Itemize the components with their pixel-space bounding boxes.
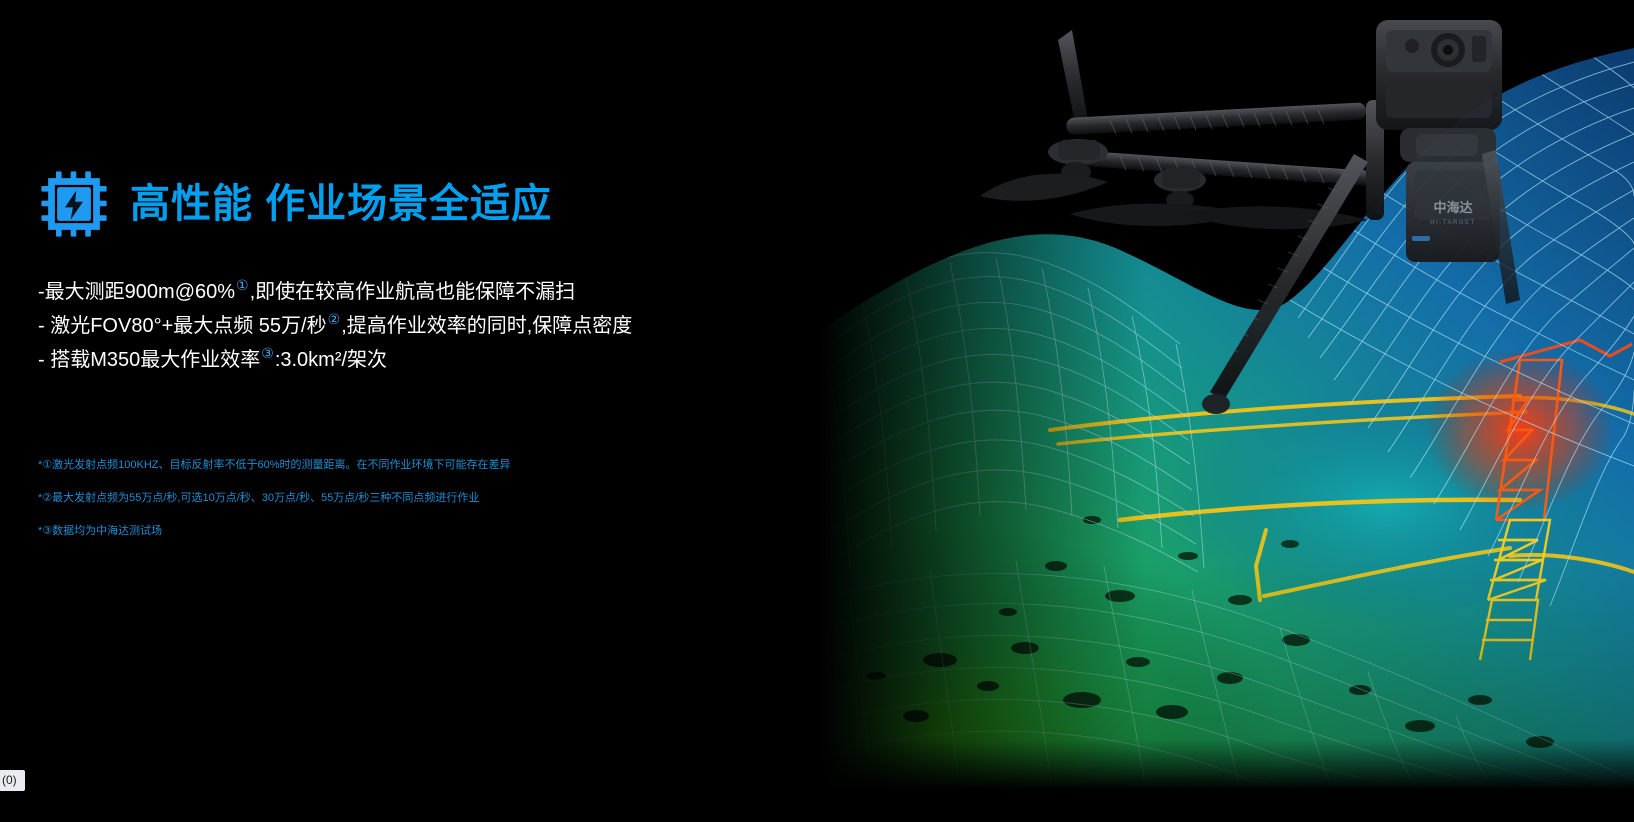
page-title: 高性能 作业场景全适应 xyxy=(130,184,552,224)
text-content-column: 高性能 作业场景全适应 -最大测距900m@60%①,即使在较高作业航高也能保障… xyxy=(0,0,830,822)
chip-bolt-icon xyxy=(38,168,110,240)
feature-bullet-list: -最大测距900m@60%①,即使在较高作业航高也能保障不漏扫 - 激光FOV8… xyxy=(38,282,798,384)
bullet-text-suffix: ,即使在较高作业航高也能保障不漏扫 xyxy=(250,281,576,303)
bullet-text-suffix: ,提高作业效率的同时,保障点密度 xyxy=(341,315,632,337)
section-header: 高性能 作业场景全适应 xyxy=(38,168,552,240)
bullet-item: -最大测距900m@60%①,即使在较高作业航高也能保障不漏扫 xyxy=(38,282,798,302)
footnote-item: *①激光发射点频100KHZ、目标反射率不低于60%时的测量距离。在不同作业环境… xyxy=(38,460,798,471)
footnote-marker-1: ① xyxy=(236,277,249,293)
bullet-item: - 搭载M350最大作业效率③:3.0km²/架次 xyxy=(38,350,798,370)
payload-sub-text: HI-TARGET xyxy=(1430,220,1475,226)
bullet-text-prefix: -最大测距900m@60% xyxy=(38,281,235,303)
footnote-marker-3: ③ xyxy=(261,345,274,361)
bullet-text-suffix: :3.0km²/架次 xyxy=(275,349,387,371)
product-imagery: 中海达 HI-TARGET xyxy=(820,0,1634,790)
payload-brand-text: 中海达 xyxy=(1433,200,1472,215)
bottom-fade-overlay xyxy=(820,560,1634,790)
bullet-text-prefix: - 激光FOV80°+最大点频 55万/秒 xyxy=(38,315,327,337)
slide-canvas: 中海达 HI-TARGET xyxy=(0,0,1634,822)
footnote-list: *①激光发射点频100KHZ、目标反射率不低于60%时的测量距离。在不同作业环境… xyxy=(38,460,798,559)
imagery-svg: 中海达 HI-TARGET xyxy=(820,0,1634,790)
footnote-marker-2: ② xyxy=(328,311,341,327)
bullet-item: - 激光FOV80°+最大点频 55万/秒②,提高作业效率的同时,保障点密度 xyxy=(38,316,798,336)
bullet-text-prefix: - 搭载M350最大作业效率 xyxy=(38,349,260,371)
corner-status-chip[interactable]: (0) xyxy=(0,770,25,791)
footnote-item: *③数据均为中海达测试场 xyxy=(38,526,798,537)
footnote-item: *②最大发射点频为55万点/秒,可选10万点/秒、30万点/秒、55万点/秒三种… xyxy=(38,493,798,504)
